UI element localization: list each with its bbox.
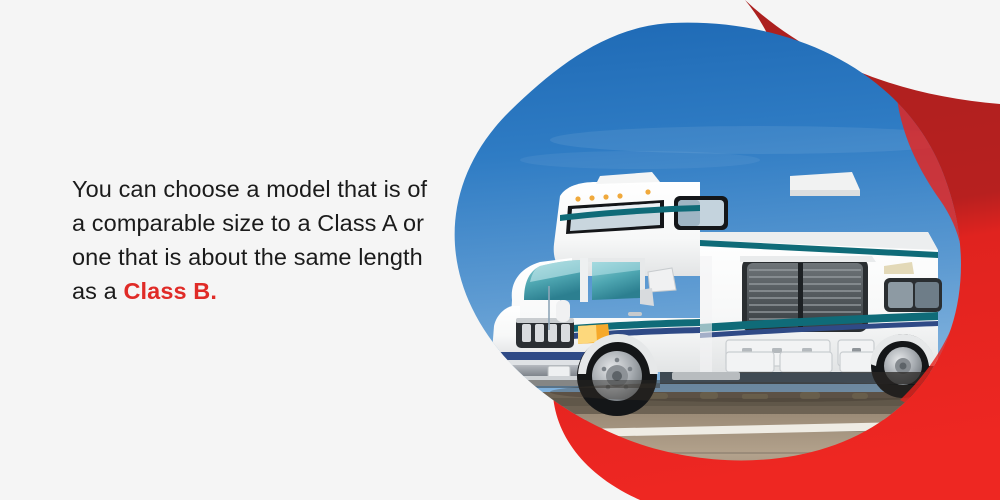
copy-line-2: a comparable size to a Class A or [72,206,462,240]
copy-line-4-prefix: as a [72,278,123,304]
headline-copy: You can choose a model that is of a comp… [72,172,462,308]
copy-line-3: one that is about the same length [72,240,462,274]
banner-stage: You can choose a model that is of a comp… [0,0,1000,500]
copy-accent-class-b: Class B. [123,278,217,304]
copy-line-1: You can choose a model that is of [72,172,462,206]
copy-line-4: as a Class B. [72,274,462,308]
